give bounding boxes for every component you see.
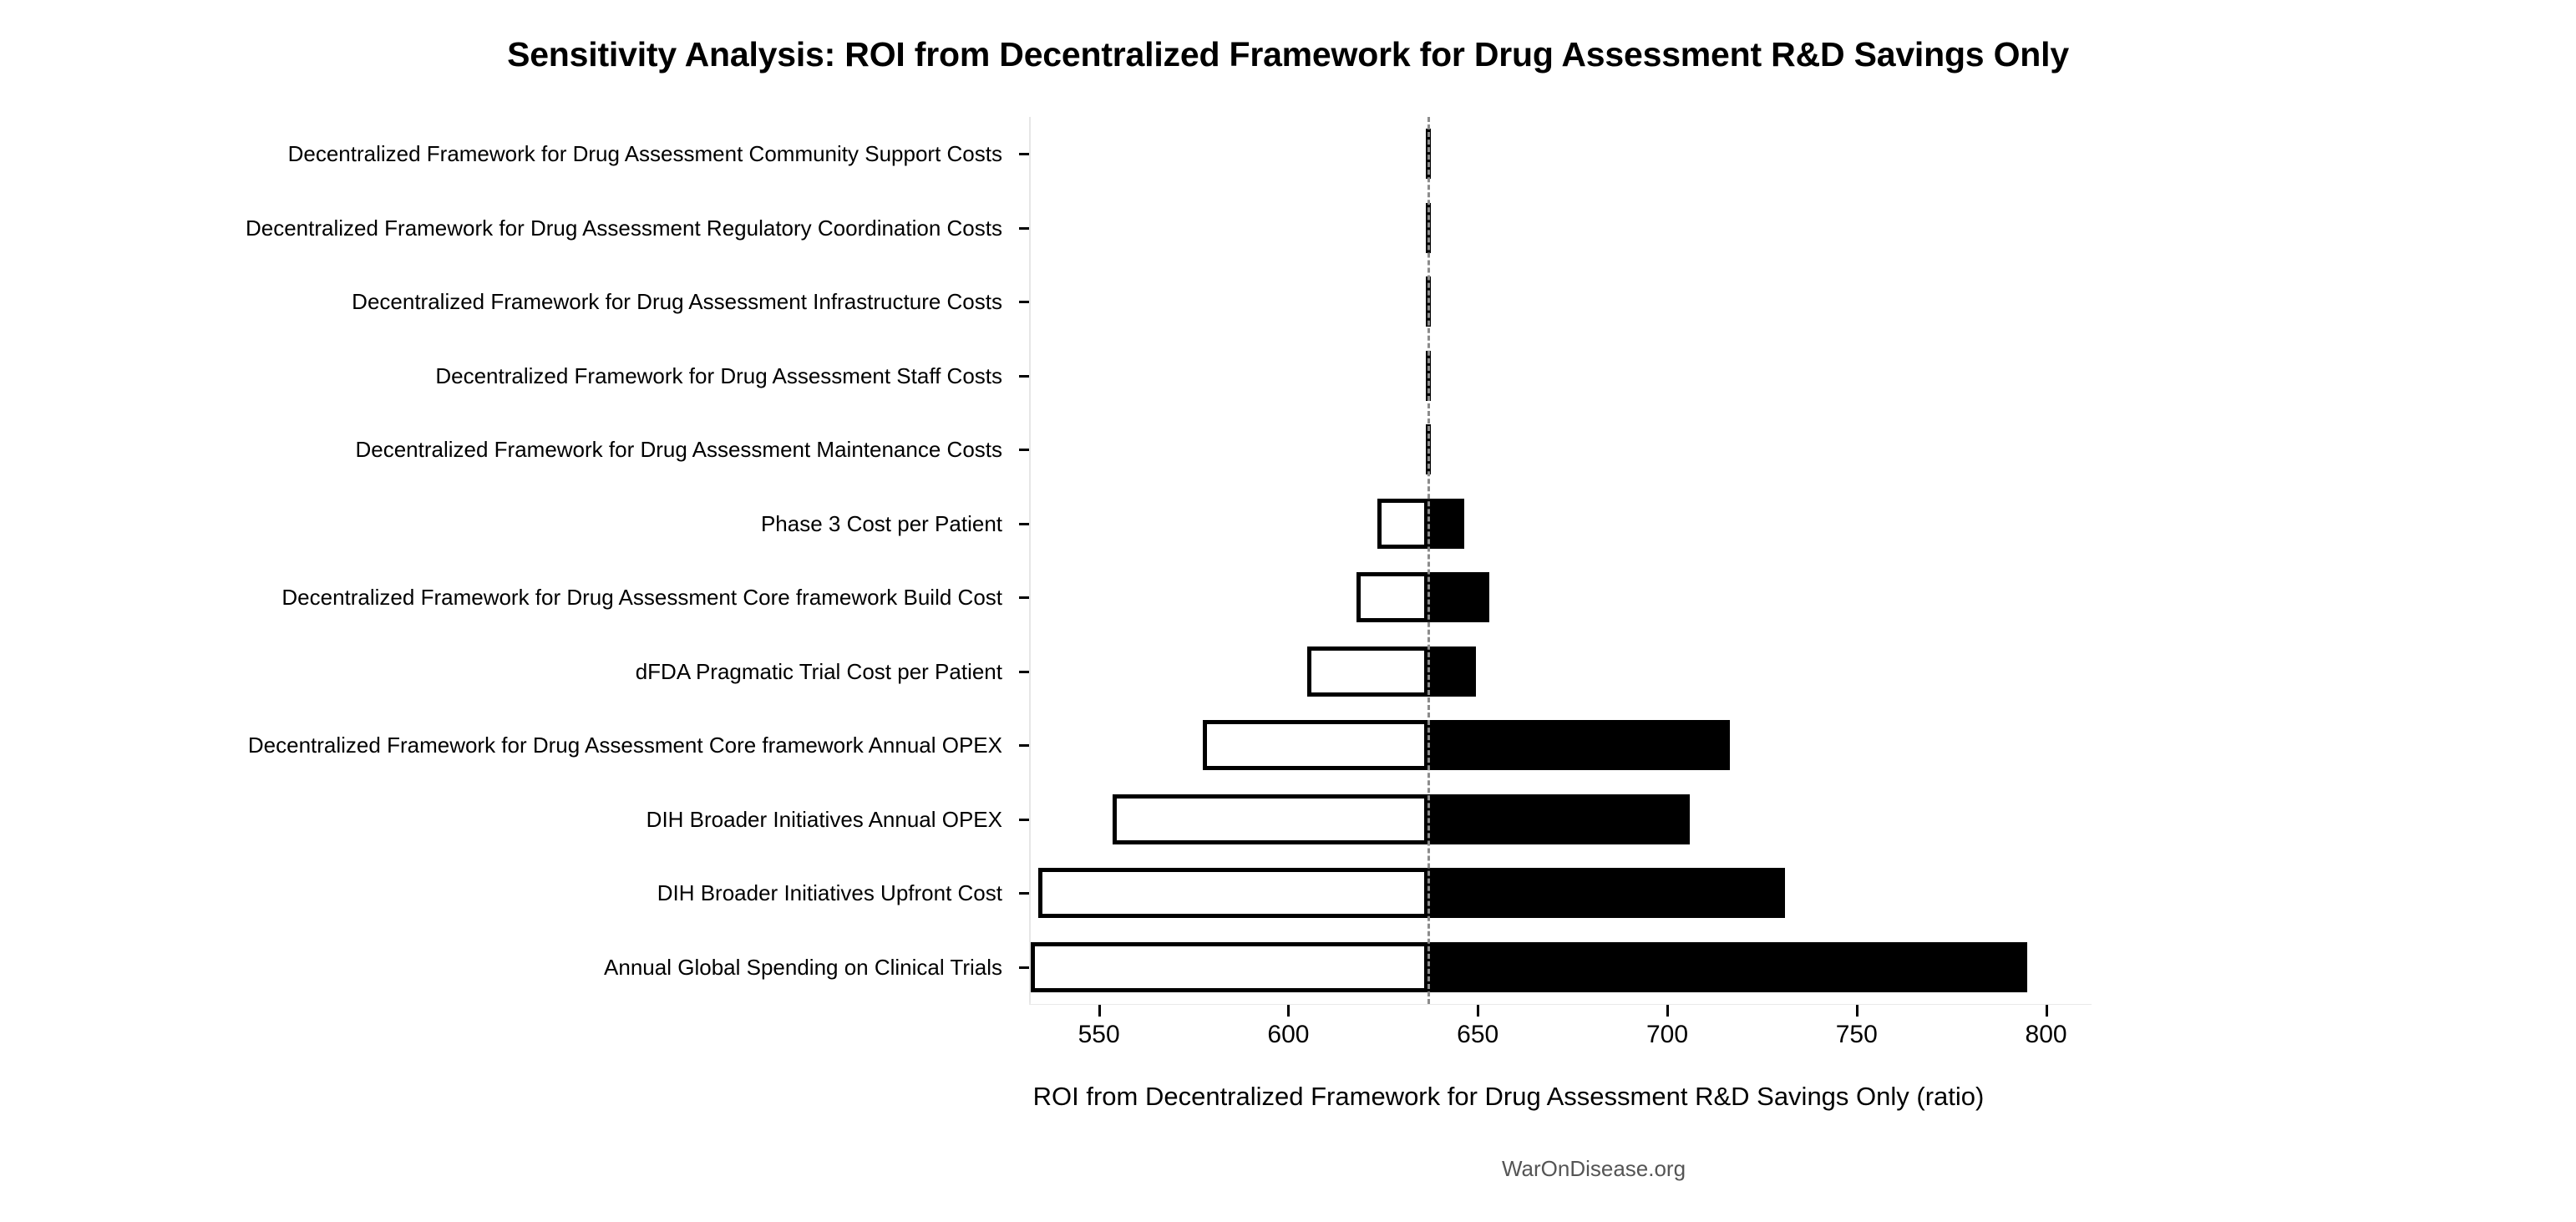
x-tick <box>1477 1005 1479 1017</box>
tornado-row <box>1031 708 2092 783</box>
y-axis-tick-label: Phase 3 Cost per Patient <box>761 513 1002 535</box>
y-axis-tick-label: Decentralized Framework for Drug Assessm… <box>288 143 1002 165</box>
y-tick <box>1019 449 1029 451</box>
y-axis-tick-label: Decentralized Framework for Drug Assessm… <box>355 439 1002 460</box>
bar-high-segment[interactable] <box>1428 499 1464 549</box>
bar-low-segment[interactable] <box>1038 868 1428 918</box>
tornado-row <box>1031 339 2092 413</box>
bar-low-segment[interactable] <box>1307 646 1428 697</box>
tornado-row <box>1031 265 2092 339</box>
y-axis-tick-label: Decentralized Framework for Drug Assessm… <box>246 217 1002 239</box>
bar-low-segment[interactable] <box>1203 720 1428 770</box>
y-tick <box>1019 966 1029 969</box>
y-tick <box>1019 301 1029 303</box>
tornado-row <box>1031 856 2092 930</box>
y-axis-tick-label: DIH Broader Initiatives Upfront Cost <box>657 882 1002 904</box>
x-axis-tick-label: 700 <box>1646 1021 1688 1049</box>
y-tick <box>1019 819 1029 821</box>
baseline-marker <box>1427 117 1433 1004</box>
y-tick <box>1019 375 1029 378</box>
y-axis-tick-label: Decentralized Framework for Drug Assessm… <box>435 365 1002 387</box>
y-tick <box>1019 596 1029 599</box>
bar-high-segment[interactable] <box>1428 572 1489 622</box>
x-axis-tick-label: 800 <box>2026 1021 2067 1049</box>
tornado-row <box>1031 635 2092 709</box>
x-tick <box>1287 1005 1290 1017</box>
tornado-row <box>1031 117 2092 191</box>
bar-low-segment[interactable] <box>1377 499 1428 549</box>
x-axis-tick-label: 600 <box>1267 1021 1309 1049</box>
y-tick <box>1019 523 1029 525</box>
chart-canvas: Sensitivity Analysis: ROI from Decentral… <box>0 0 2576 1222</box>
chart-title: Sensitivity Analysis: ROI from Decentral… <box>0 35 2576 74</box>
x-tick <box>1098 1005 1101 1017</box>
x-axis-tick-label: 550 <box>1078 1021 1120 1049</box>
watermark-text: WarOnDisease.org <box>1502 1156 1686 1182</box>
bar-high-segment[interactable] <box>1428 868 1784 918</box>
tornado-row <box>1031 413 2092 487</box>
y-axis-tick-label: dFDA Pragmatic Trial Cost per Patient <box>636 661 1002 682</box>
y-axis-tick-label: Decentralized Framework for Drug Assessm… <box>248 734 1002 756</box>
tornado-row <box>1031 560 2092 635</box>
y-tick <box>1019 671 1029 673</box>
tornado-row <box>1031 191 2092 266</box>
y-tick <box>1019 892 1029 895</box>
x-tick <box>1856 1005 1858 1017</box>
x-axis-tick-label: 750 <box>1836 1021 1878 1049</box>
bar-high-segment[interactable] <box>1428 646 1476 697</box>
x-tick <box>1666 1005 1669 1017</box>
bar-high-segment[interactable] <box>1428 794 1690 844</box>
x-tick <box>2046 1005 2048 1017</box>
x-axis-title: ROI from Decentralized Framework for Dru… <box>0 1082 2576 1112</box>
bar-low-segment[interactable] <box>1356 572 1428 622</box>
y-axis-tick-label: DIH Broader Initiatives Annual OPEX <box>647 809 1002 830</box>
y-tick <box>1019 744 1029 747</box>
bar-low-segment[interactable] <box>1113 794 1429 844</box>
bar-low-segment[interactable] <box>1031 942 1428 992</box>
y-axis-tick-label: Decentralized Framework for Drug Assessm… <box>352 291 1002 312</box>
tornado-row <box>1031 783 2092 857</box>
x-axis-title-text: ROI from Decentralized Framework for Dru… <box>1033 1082 1985 1112</box>
x-axis-tick-label: 650 <box>1457 1021 1498 1049</box>
tornado-row <box>1031 930 2092 1005</box>
y-axis-tick-label: Annual Global Spending on Clinical Trial… <box>604 956 1002 978</box>
plot-area <box>1031 117 2092 1004</box>
bar-high-segment[interactable] <box>1428 720 1730 770</box>
tornado-row <box>1031 487 2092 561</box>
y-axis-tick-label: Decentralized Framework for Drug Assessm… <box>281 586 1002 608</box>
bar-high-segment[interactable] <box>1428 942 2027 992</box>
y-tick <box>1019 153 1029 155</box>
watermark: WarOnDisease.org <box>0 1156 2576 1182</box>
y-tick <box>1019 227 1029 230</box>
